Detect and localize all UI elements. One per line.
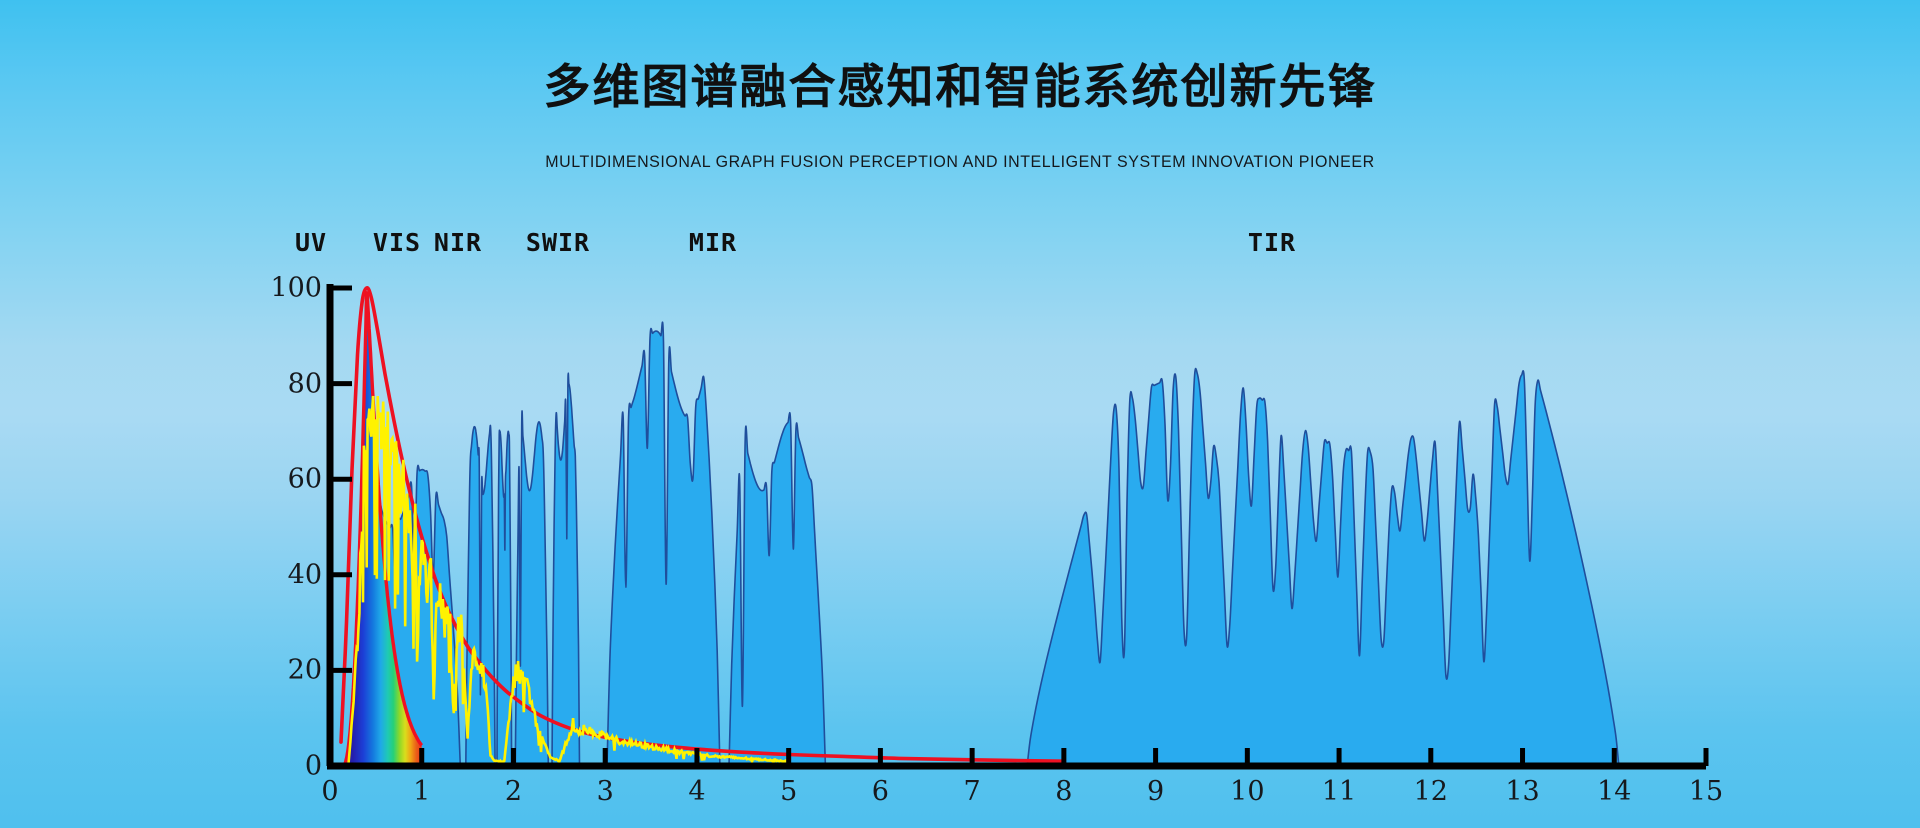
x-tick-label: 12: [1414, 776, 1448, 807]
band-label-swir: SWIR: [526, 228, 590, 257]
band-label-uv: UV: [295, 228, 327, 257]
y-tick-label: 40: [288, 559, 322, 590]
x-tick-label: 15: [1689, 776, 1723, 807]
x-tick-label: 8: [1055, 776, 1072, 807]
band-label-tir: TIR: [1248, 228, 1296, 257]
x-tick-label: 6: [872, 776, 889, 807]
x-tick-label: 9: [1147, 776, 1164, 807]
x-tick-label: 4: [688, 776, 705, 807]
x-tick-label: 14: [1597, 776, 1631, 807]
y-tick-label: 20: [288, 655, 322, 686]
spectrum-chart: [0, 0, 1920, 828]
x-tick-label: 2: [505, 776, 522, 807]
atmospheric-transmission-bands: [358, 322, 1619, 766]
x-tick-label: 5: [780, 776, 797, 807]
y-tick-label: 100: [270, 273, 322, 304]
band-label-vis: VIS: [373, 228, 421, 257]
poster-canvas: 多维图谱融合感知和智能系统创新先锋 MULTIDIMENSIONAL GRAPH…: [0, 0, 1920, 828]
x-tick-label: 0: [321, 776, 338, 807]
band-label-mir: MIR: [689, 228, 737, 257]
x-tick-label: 7: [964, 776, 981, 807]
y-tick-label: 80: [288, 368, 322, 399]
x-tick-label: 11: [1322, 776, 1356, 807]
x-tick-label: 1: [413, 776, 430, 807]
x-tick-label: 10: [1230, 776, 1264, 807]
band-label-nir: NIR: [434, 228, 482, 257]
y-tick-label: 60: [288, 464, 322, 495]
x-tick-label: 3: [597, 776, 614, 807]
atmospheric-transmission-area: [358, 322, 1619, 766]
y-tick-label: 0: [305, 751, 322, 782]
x-tick-label: 13: [1505, 776, 1539, 807]
